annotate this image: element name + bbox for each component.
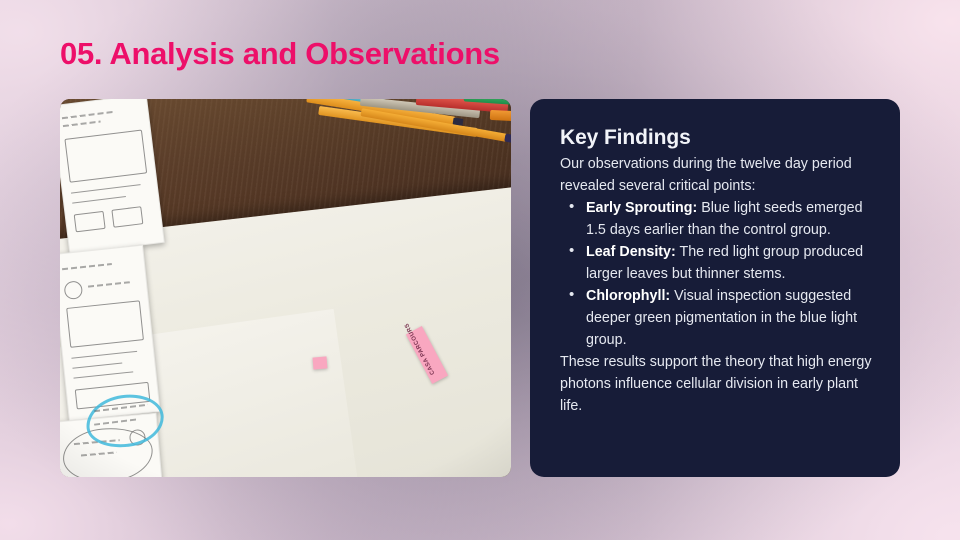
slide-canvas: 05. Analysis and Observations [0,0,960,540]
wireframe-sheet-b [60,245,161,422]
findings-intro: Our observations during the twelve day p… [560,153,874,197]
page-title: 05. Analysis and Observations [60,36,500,72]
finding-term: Leaf Density: [586,244,676,260]
finding-term: Early Sprouting: [586,200,697,216]
sketches-photo: CASA PARCOURS [60,99,511,477]
sticky-tab-small [313,356,328,369]
key-findings-card: Key Findings Our observations during the… [530,99,900,477]
list-item: Leaf Density: The red light group produc… [560,241,874,285]
wireframe-sheet-a [60,99,165,254]
findings-list: Early Sprouting: Blue light seeds emerge… [560,197,874,351]
finding-term: Chlorophyll: [586,288,670,304]
list-item: Early Sprouting: Blue light seeds emerge… [560,197,874,241]
list-item: Chlorophyll: Visual inspection suggested… [560,285,874,351]
findings-closing: These results support the theory that hi… [560,351,874,417]
findings-heading: Key Findings [560,126,874,150]
